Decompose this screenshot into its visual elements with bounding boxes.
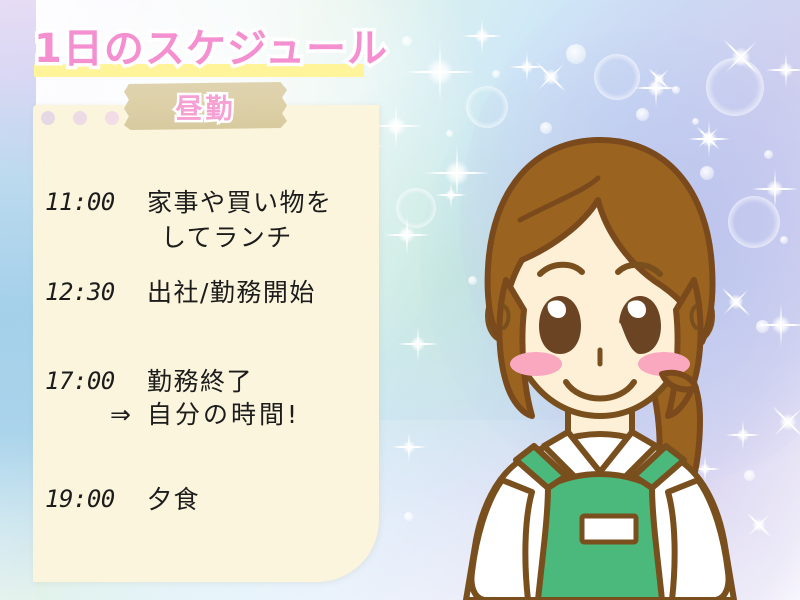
arrow-right-icon: ⇒ (45, 402, 147, 427)
schedule-task: 夕食 (147, 487, 375, 512)
page-title: 1日のスケジュール (20, 20, 400, 78)
spacer (45, 254, 375, 280)
schedule-task-line1: 家事や買い物を (147, 188, 333, 217)
schedule-row: 12:30 出社/勤務開始 (45, 280, 375, 305)
name-tag (582, 516, 636, 542)
blush-left (510, 352, 562, 376)
schedule-time: 17:00 (45, 369, 147, 393)
spacer (45, 309, 375, 339)
spacer (45, 339, 375, 369)
schedule-time: 12:30 (45, 280, 147, 304)
spacer (45, 427, 375, 457)
schedule-row: 19:00 夕食 (45, 487, 375, 512)
character-illustration (400, 120, 800, 600)
shift-label: 昼勤 (124, 84, 287, 128)
schedule-infographic: 1日のスケジュール 昼勤 11:00 家事や買い物を してランチ 12:30 出… (0, 0, 800, 600)
schedule-row: 11:00 家事や買い物を してランチ (45, 190, 375, 250)
arm-right (668, 480, 729, 600)
arm-left (472, 480, 533, 600)
punch-hole-dot-icon (41, 111, 55, 125)
schedule-time: 11:00 (45, 190, 147, 214)
background-left-band (0, 0, 36, 600)
title-text: 1日のスケジュール (34, 28, 388, 70)
spacer (45, 457, 375, 487)
schedule-subline: ⇒ 自分の時間! (45, 402, 375, 427)
schedule-task-line2: してランチ (147, 225, 375, 250)
punch-hole-dot-icon (73, 111, 87, 125)
schedule-task: 勤務終了 (147, 369, 375, 394)
schedule-task: 出社/勤務開始 (147, 280, 375, 305)
schedule-row: 17:00 勤務終了 (45, 369, 375, 394)
schedule-task: 家事や買い物を してランチ (147, 190, 375, 250)
schedule-subline-text: 自分の時間! (147, 402, 300, 427)
schedule-time: 19:00 (45, 487, 147, 511)
punch-hole-dot-icon (105, 111, 119, 125)
schedule-list: 11:00 家事や買い物を してランチ 12:30 出社/勤務開始 17:00 … (45, 190, 375, 516)
